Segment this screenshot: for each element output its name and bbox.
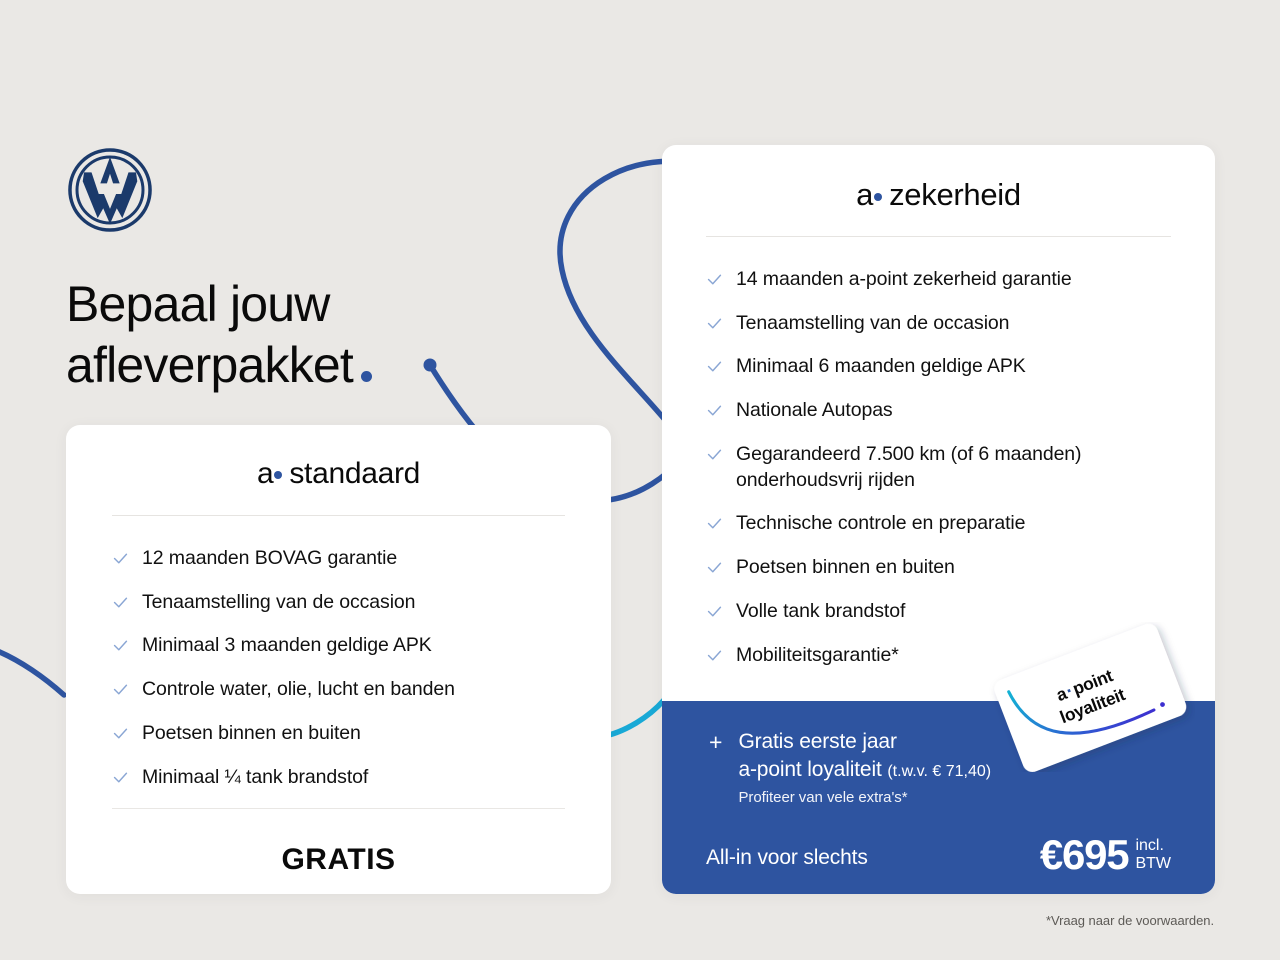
feature-list-standaard: 12 maanden BOVAG garantie Tenaamstelling… (112, 546, 565, 790)
check-icon (112, 769, 129, 786)
list-item-label: 14 maanden a-point zekerheid garantie (736, 267, 1072, 293)
price-vat-label: incl. BTW (1135, 834, 1171, 873)
list-item: Poetsen binnen en buiten (706, 555, 1171, 581)
brand-block: Bepaal jouwafleverpakket (66, 146, 372, 396)
list-item-label: 12 maanden BOVAG garantie (142, 546, 397, 572)
list-item: Minimaal ¼ tank brandstof (112, 765, 565, 791)
check-icon (112, 725, 129, 742)
list-item-label: Poetsen binnen en buiten (736, 555, 955, 581)
bonus-text: Gratis eerste jaar a-point loyaliteit (t… (738, 728, 991, 806)
list-item-label: Technische controle en preparatie (736, 511, 1025, 537)
list-item: Volle tank brandstof (706, 599, 1171, 625)
list-item: Tenaamstelling van de occasion (706, 311, 1171, 337)
list-item-label: Nationale Autopas (736, 398, 893, 424)
check-icon (706, 603, 723, 620)
package-card-zekerheid[interactable]: azekerheid 14 maanden a-point zekerheid … (662, 145, 1215, 894)
check-icon (706, 271, 723, 288)
price-amount: €695 (1040, 834, 1129, 876)
check-icon (706, 446, 723, 463)
bonus-line-2-label: a-point loyaliteit (738, 758, 881, 781)
card-divider (706, 236, 1171, 237)
allin-label: All-in voor slechts (706, 846, 868, 876)
list-item-label: Controle water, olie, lucht en banden (142, 677, 455, 703)
check-icon (706, 315, 723, 332)
title-dot-icon (874, 193, 882, 201)
price-row: All-in voor slechts €695 incl. BTW (706, 834, 1171, 876)
list-item: 12 maanden BOVAG garantie (112, 546, 565, 572)
list-item-label: Mobiliteitsgarantie* (736, 643, 899, 669)
list-item: 14 maanden a-point zekerheid garantie (706, 267, 1171, 293)
list-item-label: Minimaal 3 maanden geldige APK (142, 633, 432, 659)
list-item-label: Volle tank brandstof (736, 599, 905, 625)
check-icon (706, 559, 723, 576)
list-item: Tenaamstelling van de occasion (112, 590, 565, 616)
card-title-text: zekerheid (889, 177, 1021, 212)
check-icon (706, 402, 723, 419)
check-icon (706, 647, 723, 664)
bonus-worth-value: (t.w.v. € 71,40) (887, 763, 991, 780)
page-title: Bepaal jouwafleverpakket (66, 274, 372, 396)
bonus-subtext: Profiteer van vele extra's* (738, 789, 991, 806)
card-title-prefix: a (856, 177, 873, 212)
package-card-standaard[interactable]: astandaard 12 maanden BOVAG garantie Ten… (66, 425, 611, 894)
list-item-label: Minimaal ¼ tank brandstof (142, 765, 368, 791)
list-item: Minimaal 6 maanden geldige APK (706, 354, 1171, 380)
list-item: Technische controle en preparatie (706, 511, 1171, 537)
price-label-standaard: GRATIS (112, 843, 565, 877)
check-icon (706, 515, 723, 532)
list-item-label: Gegarandeerd 7.500 km (of 6 maanden) ond… (736, 442, 1171, 493)
list-item: Nationale Autopas (706, 398, 1171, 424)
list-item: Controle water, olie, lucht en banden (112, 677, 565, 703)
card-title-prefix: a (257, 457, 273, 490)
headline-line-1: Bepaal jouw (66, 276, 330, 332)
title-dot-icon (274, 471, 282, 479)
bonus-line-1: Gratis eerste jaar (738, 728, 991, 756)
card-title-zekerheid: azekerheid (662, 145, 1215, 210)
headline-dot-icon (424, 359, 437, 372)
price-group: €695 incl. BTW (1040, 834, 1171, 876)
card-title-text: standaard (289, 457, 420, 490)
list-item-label: Minimaal 6 maanden geldige APK (736, 354, 1026, 380)
list-item: Gegarandeerd 7.500 km (of 6 maanden) ond… (706, 442, 1171, 493)
loyalty-card-graphic: a·point loyaliteit (985, 622, 1195, 772)
list-item: Poetsen binnen en buiten (112, 721, 565, 747)
check-icon (706, 358, 723, 375)
list-item-label: Tenaamstelling van de occasion (736, 311, 1009, 337)
card-title-standaard: astandaard (112, 459, 565, 489)
check-icon (112, 550, 129, 567)
check-icon (112, 681, 129, 698)
card-divider (112, 515, 565, 516)
list-item: Minimaal 3 maanden geldige APK (112, 633, 565, 659)
check-icon (112, 637, 129, 654)
feature-list-zekerheid: 14 maanden a-point zekerheid garantie Te… (706, 267, 1171, 668)
headline-accent-dot-icon (361, 371, 372, 382)
volkswagen-logo (66, 146, 154, 234)
bonus-line-2: a-point loyaliteit (t.w.v. € 71,40) (738, 756, 991, 784)
plus-icon: + (709, 731, 722, 754)
swoosh-left-edge-path (0, 650, 64, 695)
list-item-label: Tenaamstelling van de occasion (142, 590, 415, 616)
list-item-label: Poetsen binnen en buiten (142, 721, 361, 747)
footnote-text: *Vraag naar de voorwaarden. (1046, 913, 1214, 928)
check-icon (112, 594, 129, 611)
card-bottom-divider (112, 808, 565, 809)
headline-line-2: afleverpakket (66, 337, 353, 393)
